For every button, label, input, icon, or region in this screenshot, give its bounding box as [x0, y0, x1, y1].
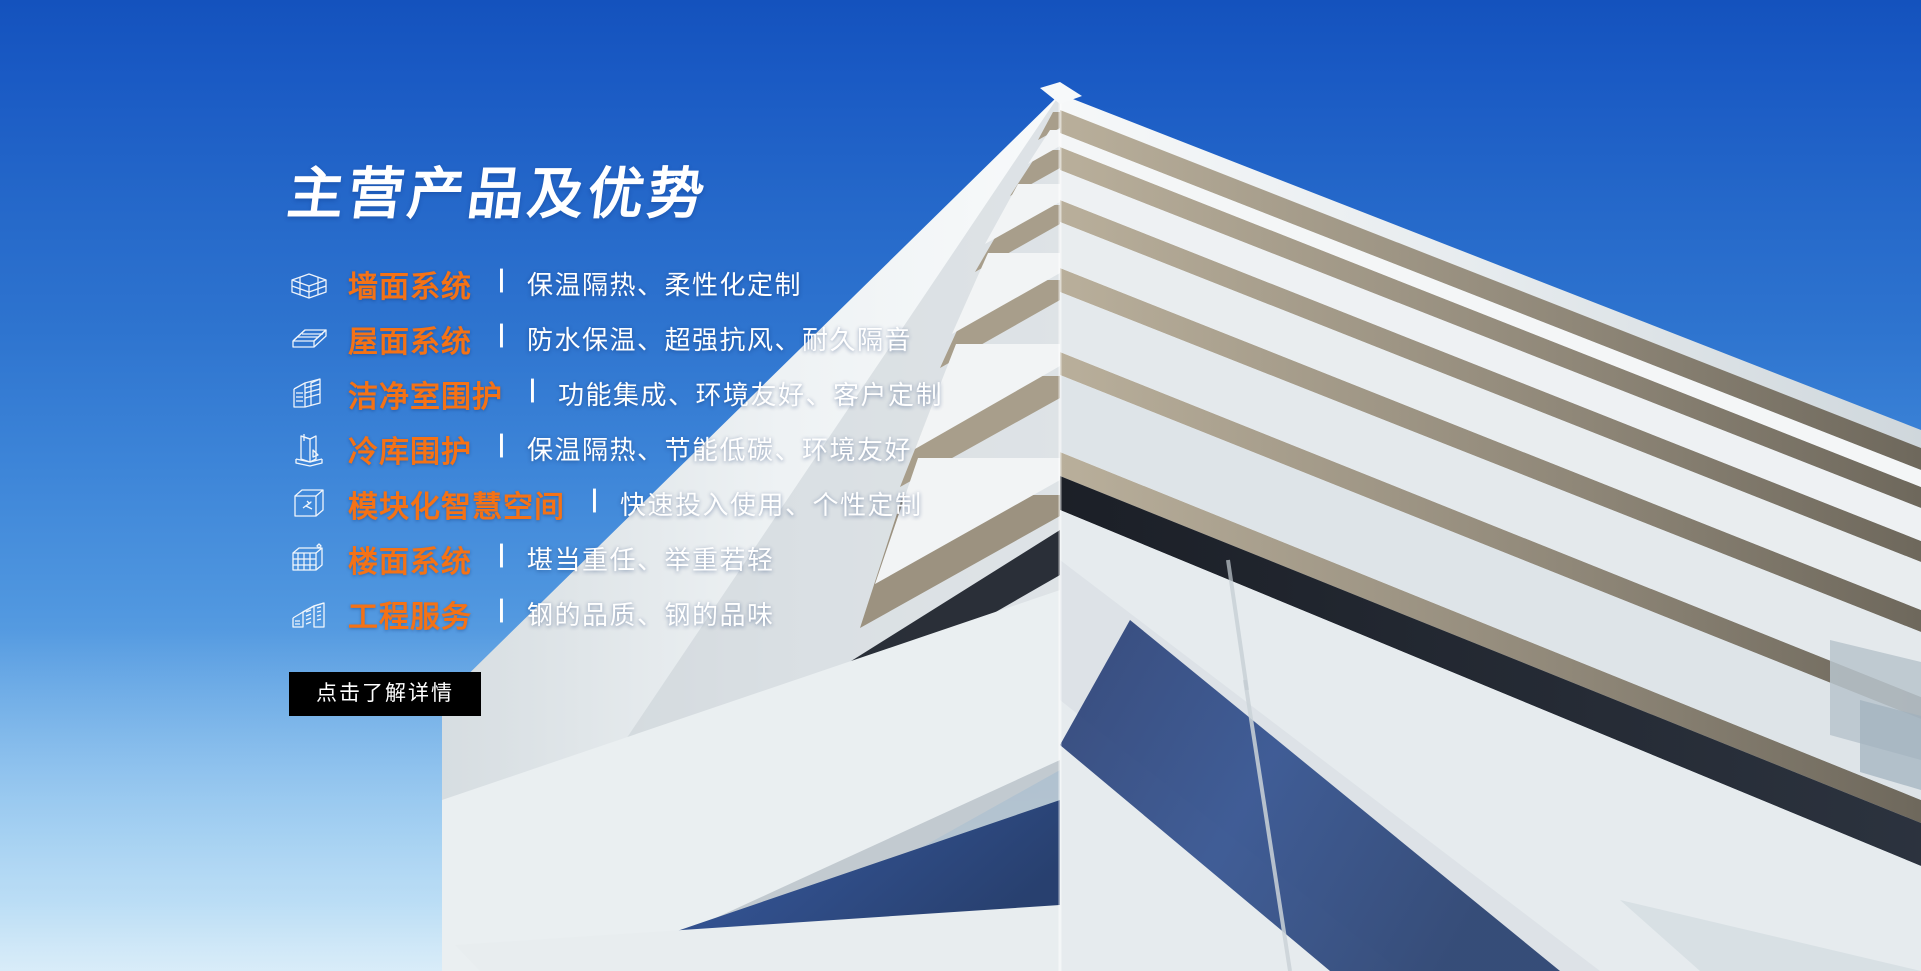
product-name: 冷库围护 [348, 427, 472, 471]
hero-content: 主营产品及优势 墙面系统 丨 保温隔热、柔性化定制 [288, 166, 1348, 716]
product-name: 洁净室围护 [348, 372, 503, 416]
wall-frame-icon [288, 263, 330, 305]
product-desc: 功能集成、环境友好、客户定制 [558, 375, 943, 412]
hero-banner: 主营产品及优势 墙面系统 丨 保温隔热、柔性化定制 [0, 0, 1921, 971]
product-separator: 丨 [489, 325, 514, 350]
product-name: 墙面系统 [348, 262, 472, 306]
product-list: 墙面系统 丨 保温隔热、柔性化定制 屋面系统 丨 [288, 256, 1348, 641]
product-separator: 丨 [489, 270, 514, 295]
product-row-roof-system[interactable]: 屋面系统 丨 防水保温、超强抗风、耐久隔音 [288, 311, 1348, 366]
product-name: 屋面系统 [348, 317, 472, 361]
product-desc: 防水保温、超强抗风、耐久隔音 [527, 320, 912, 357]
product-separator: 丨 [520, 380, 545, 405]
product-desc: 钢的品质、钢的品味 [527, 595, 775, 632]
product-name: 楼面系统 [348, 537, 472, 581]
product-desc: 保温隔热、柔性化定制 [527, 265, 802, 302]
product-desc: 快速投入使用、个性定制 [620, 485, 923, 522]
product-separator: 丨 [489, 435, 514, 460]
roof-panel-icon [288, 318, 330, 360]
page-title: 主营产品及优势 [285, 166, 1352, 222]
product-name: 工程服务 [348, 592, 472, 636]
product-separator: 丨 [582, 490, 607, 515]
product-desc: 堪当重任、举重若轻 [527, 540, 775, 577]
cold-storage-icon [288, 428, 330, 470]
product-row-engineering-service[interactable]: 工程服务 丨 钢的品质、钢的品味 [288, 586, 1348, 641]
product-row-wall-system[interactable]: 墙面系统 丨 保温隔热、柔性化定制 [288, 256, 1348, 311]
product-row-cleanroom[interactable]: 洁净室围护 丨 功能集成、环境友好、客户定制 [288, 366, 1348, 421]
product-separator: 丨 [489, 545, 514, 570]
product-separator: 丨 [489, 600, 514, 625]
product-name: 模块化智慧空间 [348, 482, 565, 526]
modular-cube-icon [288, 483, 330, 525]
product-row-modular-space[interactable]: 模块化智慧空间 丨 快速投入使用、个性定制 [288, 476, 1348, 531]
product-row-floor-system[interactable]: 楼面系统 丨 堪当重任、举重若轻 [288, 531, 1348, 586]
product-desc: 保温隔热、节能低碳、环境友好 [527, 430, 912, 467]
floor-deck-icon [288, 538, 330, 580]
cleanroom-building-icon [288, 373, 330, 415]
learn-more-button[interactable]: 点击了解详情 [289, 672, 481, 716]
product-row-cold-storage[interactable]: 冷库围护 丨 保温隔热、节能低碳、环境友好 [288, 421, 1348, 476]
engineering-service-icon [288, 593, 330, 635]
